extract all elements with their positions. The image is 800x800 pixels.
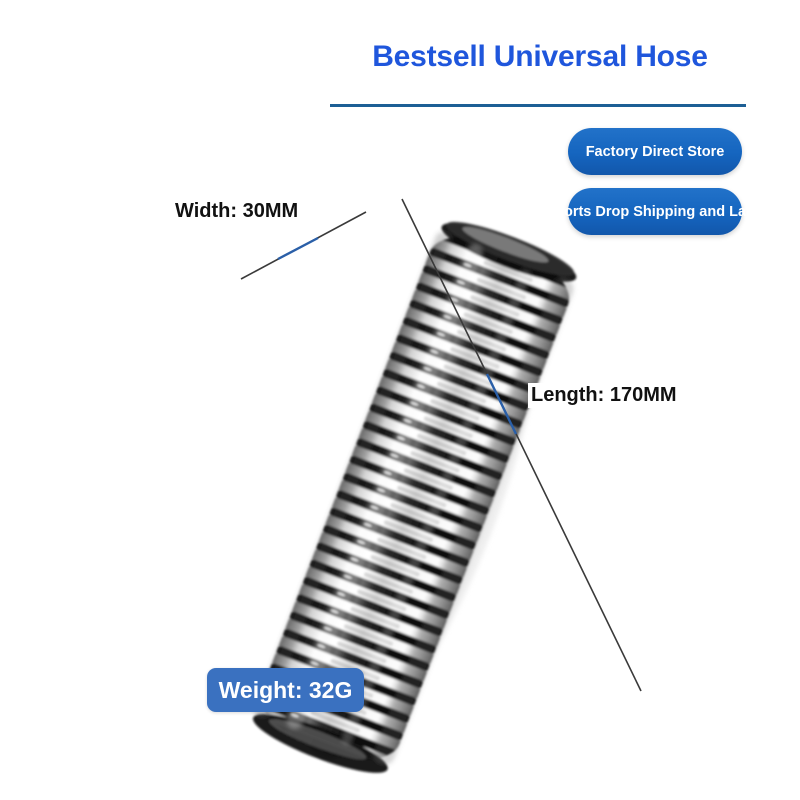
weight-badge-label: Weight: 32G [219, 677, 353, 704]
length-dimension-label: Length: 170MM [528, 383, 680, 408]
badge-factory-direct-store[interactable]: Factory Direct Store [568, 128, 742, 175]
weight-badge[interactable]: Weight: 32G [207, 668, 364, 712]
product-image-canvas: Bestsell Universal Hose Factory Direct S… [0, 0, 800, 800]
product-photo-hose [0, 0, 800, 800]
title-divider [330, 104, 746, 107]
width-dimension-label: Width: 30MM [172, 199, 301, 224]
hose-illustration [0, 0, 800, 800]
page-title: Bestsell Universal Hose [330, 40, 750, 74]
badge-drop-shipping[interactable]: orts Drop Shipping and La [568, 188, 742, 235]
badge-factory-direct-store-label: Factory Direct Store [586, 144, 725, 160]
badge-drop-shipping-label: orts Drop Shipping and La [564, 204, 746, 220]
